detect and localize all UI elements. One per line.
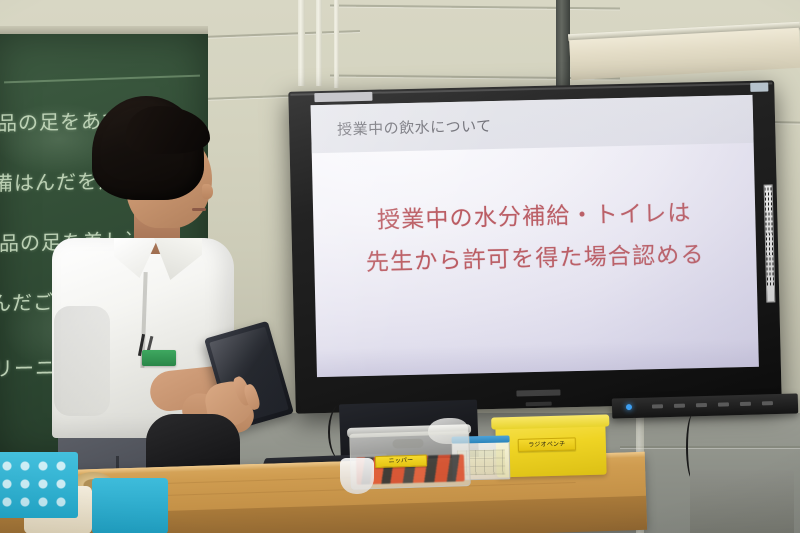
waste-bin[interactable] <box>690 470 794 533</box>
lower-wall-seam <box>620 446 800 448</box>
basket-perforations <box>0 458 74 510</box>
bin-handle[interactable] <box>393 439 424 449</box>
control-button[interactable] <box>762 401 773 405</box>
screen-shading <box>316 339 759 377</box>
slide-title: 授業中の飲水について <box>337 115 492 140</box>
sleeve-shading <box>54 306 110 416</box>
asset-barcode-sticker <box>764 184 776 302</box>
display-power-indicator <box>526 402 552 407</box>
control-button[interactable] <box>674 404 685 408</box>
slide-body: 授業中の水分補給・トイレは 先生から許可を得た場合認める <box>313 191 757 285</box>
slide-body-line-2: 先生から許可を得た場合認める <box>314 233 757 285</box>
white-funnel-cup[interactable] <box>340 458 374 494</box>
control-button[interactable] <box>740 402 751 406</box>
bezel-model-tag <box>314 92 372 102</box>
classroom-scene: 部品の足をあてる 予備はんだを溶かす 部品の足を差し込む はんだごてを離す クリ… <box>0 0 800 533</box>
bin-label-nipper: ニッパー <box>375 454 427 468</box>
wall-post <box>316 0 322 86</box>
radio-pliers-bin[interactable]: ラジオペンチ <box>495 423 606 478</box>
nose <box>202 184 213 199</box>
interactive-display[interactable]: 授業中の飲水について 授業中の水分補給・トイレは 先生から許可を得た場合認める <box>288 80 781 413</box>
blackboard-border-line <box>4 75 200 83</box>
display-brand-logo <box>516 389 560 396</box>
bezel-sticker <box>750 82 768 91</box>
blue-tray[interactable] <box>92 478 168 533</box>
bin-label-radio-pliers: ラジオペンチ <box>518 437 576 452</box>
wall-post <box>298 0 305 86</box>
blue-perforated-basket[interactable] <box>0 452 78 518</box>
wall-post <box>334 0 339 88</box>
control-button[interactable] <box>652 404 663 408</box>
name-tag <box>142 350 176 366</box>
control-button[interactable] <box>696 403 707 407</box>
bin-lid <box>491 414 609 429</box>
mouth <box>192 208 206 211</box>
control-button[interactable] <box>718 402 729 406</box>
hair-fringe <box>126 106 210 154</box>
power-led-icon <box>626 404 632 410</box>
display-screen[interactable]: 授業中の飲水について 授業中の水分補給・トイレは 先生から許可を得た場合認める <box>311 95 759 377</box>
wall-post-dark <box>556 0 570 92</box>
